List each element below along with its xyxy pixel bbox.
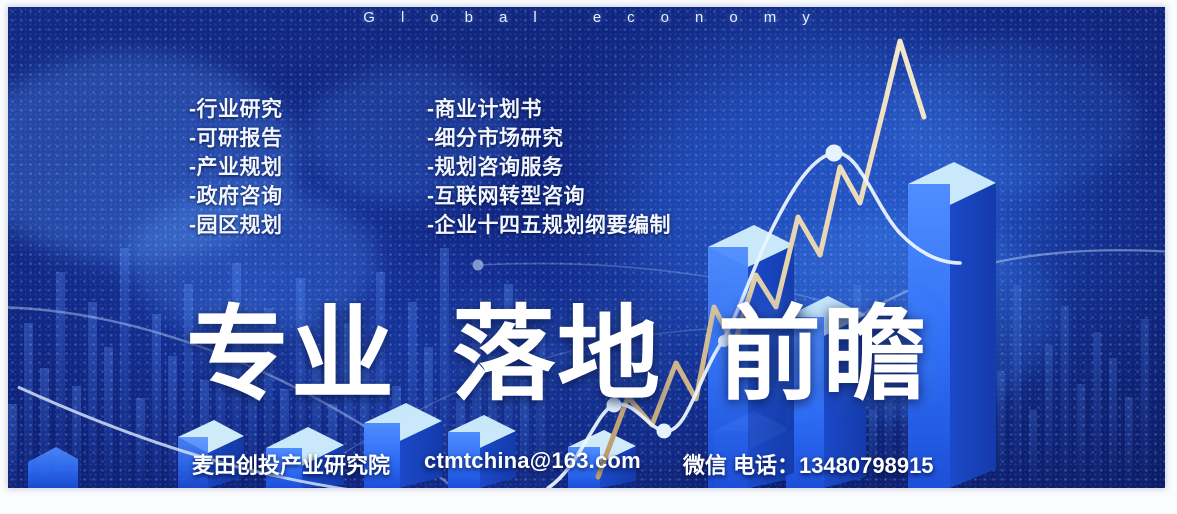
banner-header-text: Global economy [8, 9, 1165, 26]
service-item: -行业研究 [189, 95, 283, 124]
service-item: -园区规划 [189, 211, 283, 240]
slogan-word-2: 落地 [452, 297, 662, 412]
footer-contact-line: 麦田创投产业研究院ctmtchina@163.com微信 电话：13480798… [192, 448, 934, 480]
growth-chart-graphic [8, 7, 1165, 488]
organization-name: 麦田创投产业研究院 [192, 448, 390, 480]
slogan-word-1: 专业 [186, 297, 396, 412]
services-column-2: -商业计划书 -细分市场研究 -规划咨询服务 -互联网转型咨询 -企业十四五规划… [427, 95, 671, 240]
service-item: -规划咨询服务 [427, 153, 671, 182]
email-address: ctmtchina@163.com [424, 448, 641, 474]
promo-banner: Global economy -行业研究 -可研报告 -产业规划 -政府咨询 -… [8, 7, 1165, 488]
service-item: -互联网转型咨询 [427, 182, 671, 211]
service-item: -企业十四五规划纲要编制 [427, 211, 671, 240]
poster-frame: Global economy -行业研究 -可研报告 -产业规划 -政府咨询 -… [0, 0, 1177, 514]
wechat-phone-contact: 微信 电话：13480798915 [683, 448, 934, 480]
service-item: -细分市场研究 [427, 124, 671, 153]
slogan-word-3: 前瞻 [718, 297, 928, 412]
slogan: 专业落地前瞻 [186, 303, 928, 407]
service-item: -可研报告 [189, 124, 283, 153]
services-column-1: -行业研究 -可研报告 -产业规划 -政府咨询 -园区规划 [189, 95, 283, 240]
service-item: -政府咨询 [189, 182, 283, 211]
service-item: -商业计划书 [427, 95, 671, 124]
service-item: -产业规划 [189, 153, 283, 182]
